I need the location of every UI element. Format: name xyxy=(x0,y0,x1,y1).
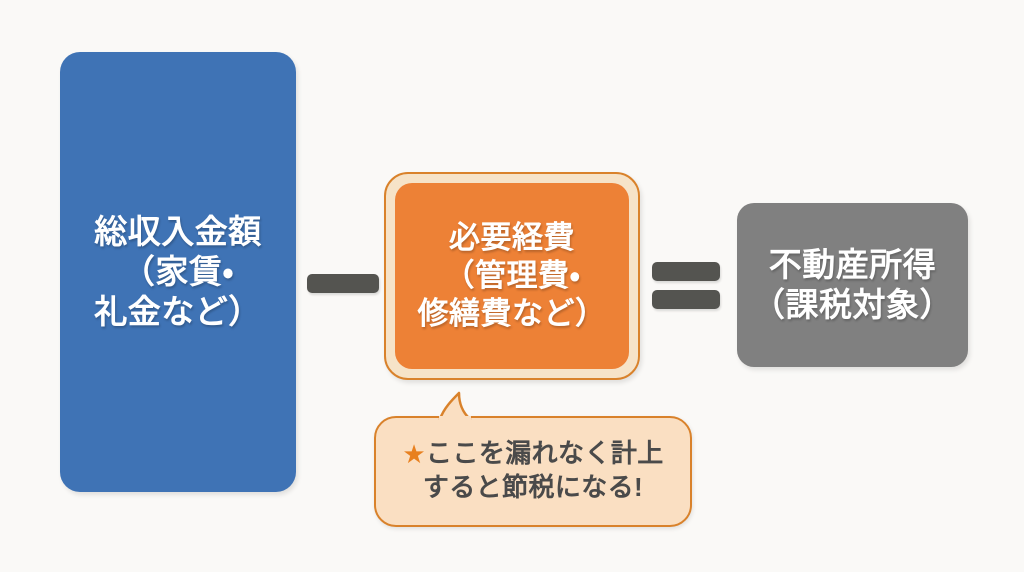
minus-operator-icon xyxy=(307,274,379,293)
tip-speech-bubble: ★ここを漏れなく計上 すると節税になる! xyxy=(374,416,692,527)
equals-bar-bottom xyxy=(652,290,720,309)
minus-bar xyxy=(307,274,379,293)
node-real-estate-income-label: 不動産所得 （課税対象） xyxy=(752,245,953,326)
node-necessary-expenses-label: 必要経費 （管理費・ 修繕費など） xyxy=(418,219,607,332)
equals-bar-top xyxy=(652,262,720,281)
star-icon: ★ xyxy=(402,439,426,469)
node-necessary-expenses-inner: 必要経費 （管理費・ 修繕費など） xyxy=(395,183,629,369)
diagram-canvas: 総収入金額 （家賃・ 礼金など） 必要経費 （管理費・ 修繕費など） 不動産所得… xyxy=(0,0,1024,572)
node-gross-income: 総収入金額 （家賃・ 礼金など） xyxy=(60,52,296,492)
node-necessary-expenses: 必要経費 （管理費・ 修繕費など） xyxy=(384,172,640,380)
node-gross-income-label: 総収入金額 （家賃・ 礼金など） xyxy=(94,212,262,333)
tip-text: ★ここを漏れなく計上 すると節税になる! xyxy=(402,437,663,506)
equals-operator-icon xyxy=(652,262,720,309)
speech-bubble-tail-icon xyxy=(438,392,472,420)
node-real-estate-income: 不動産所得 （課税対象） xyxy=(737,203,968,367)
tip-message: ここを漏れなく計上 すると節税になる! xyxy=(423,438,664,501)
